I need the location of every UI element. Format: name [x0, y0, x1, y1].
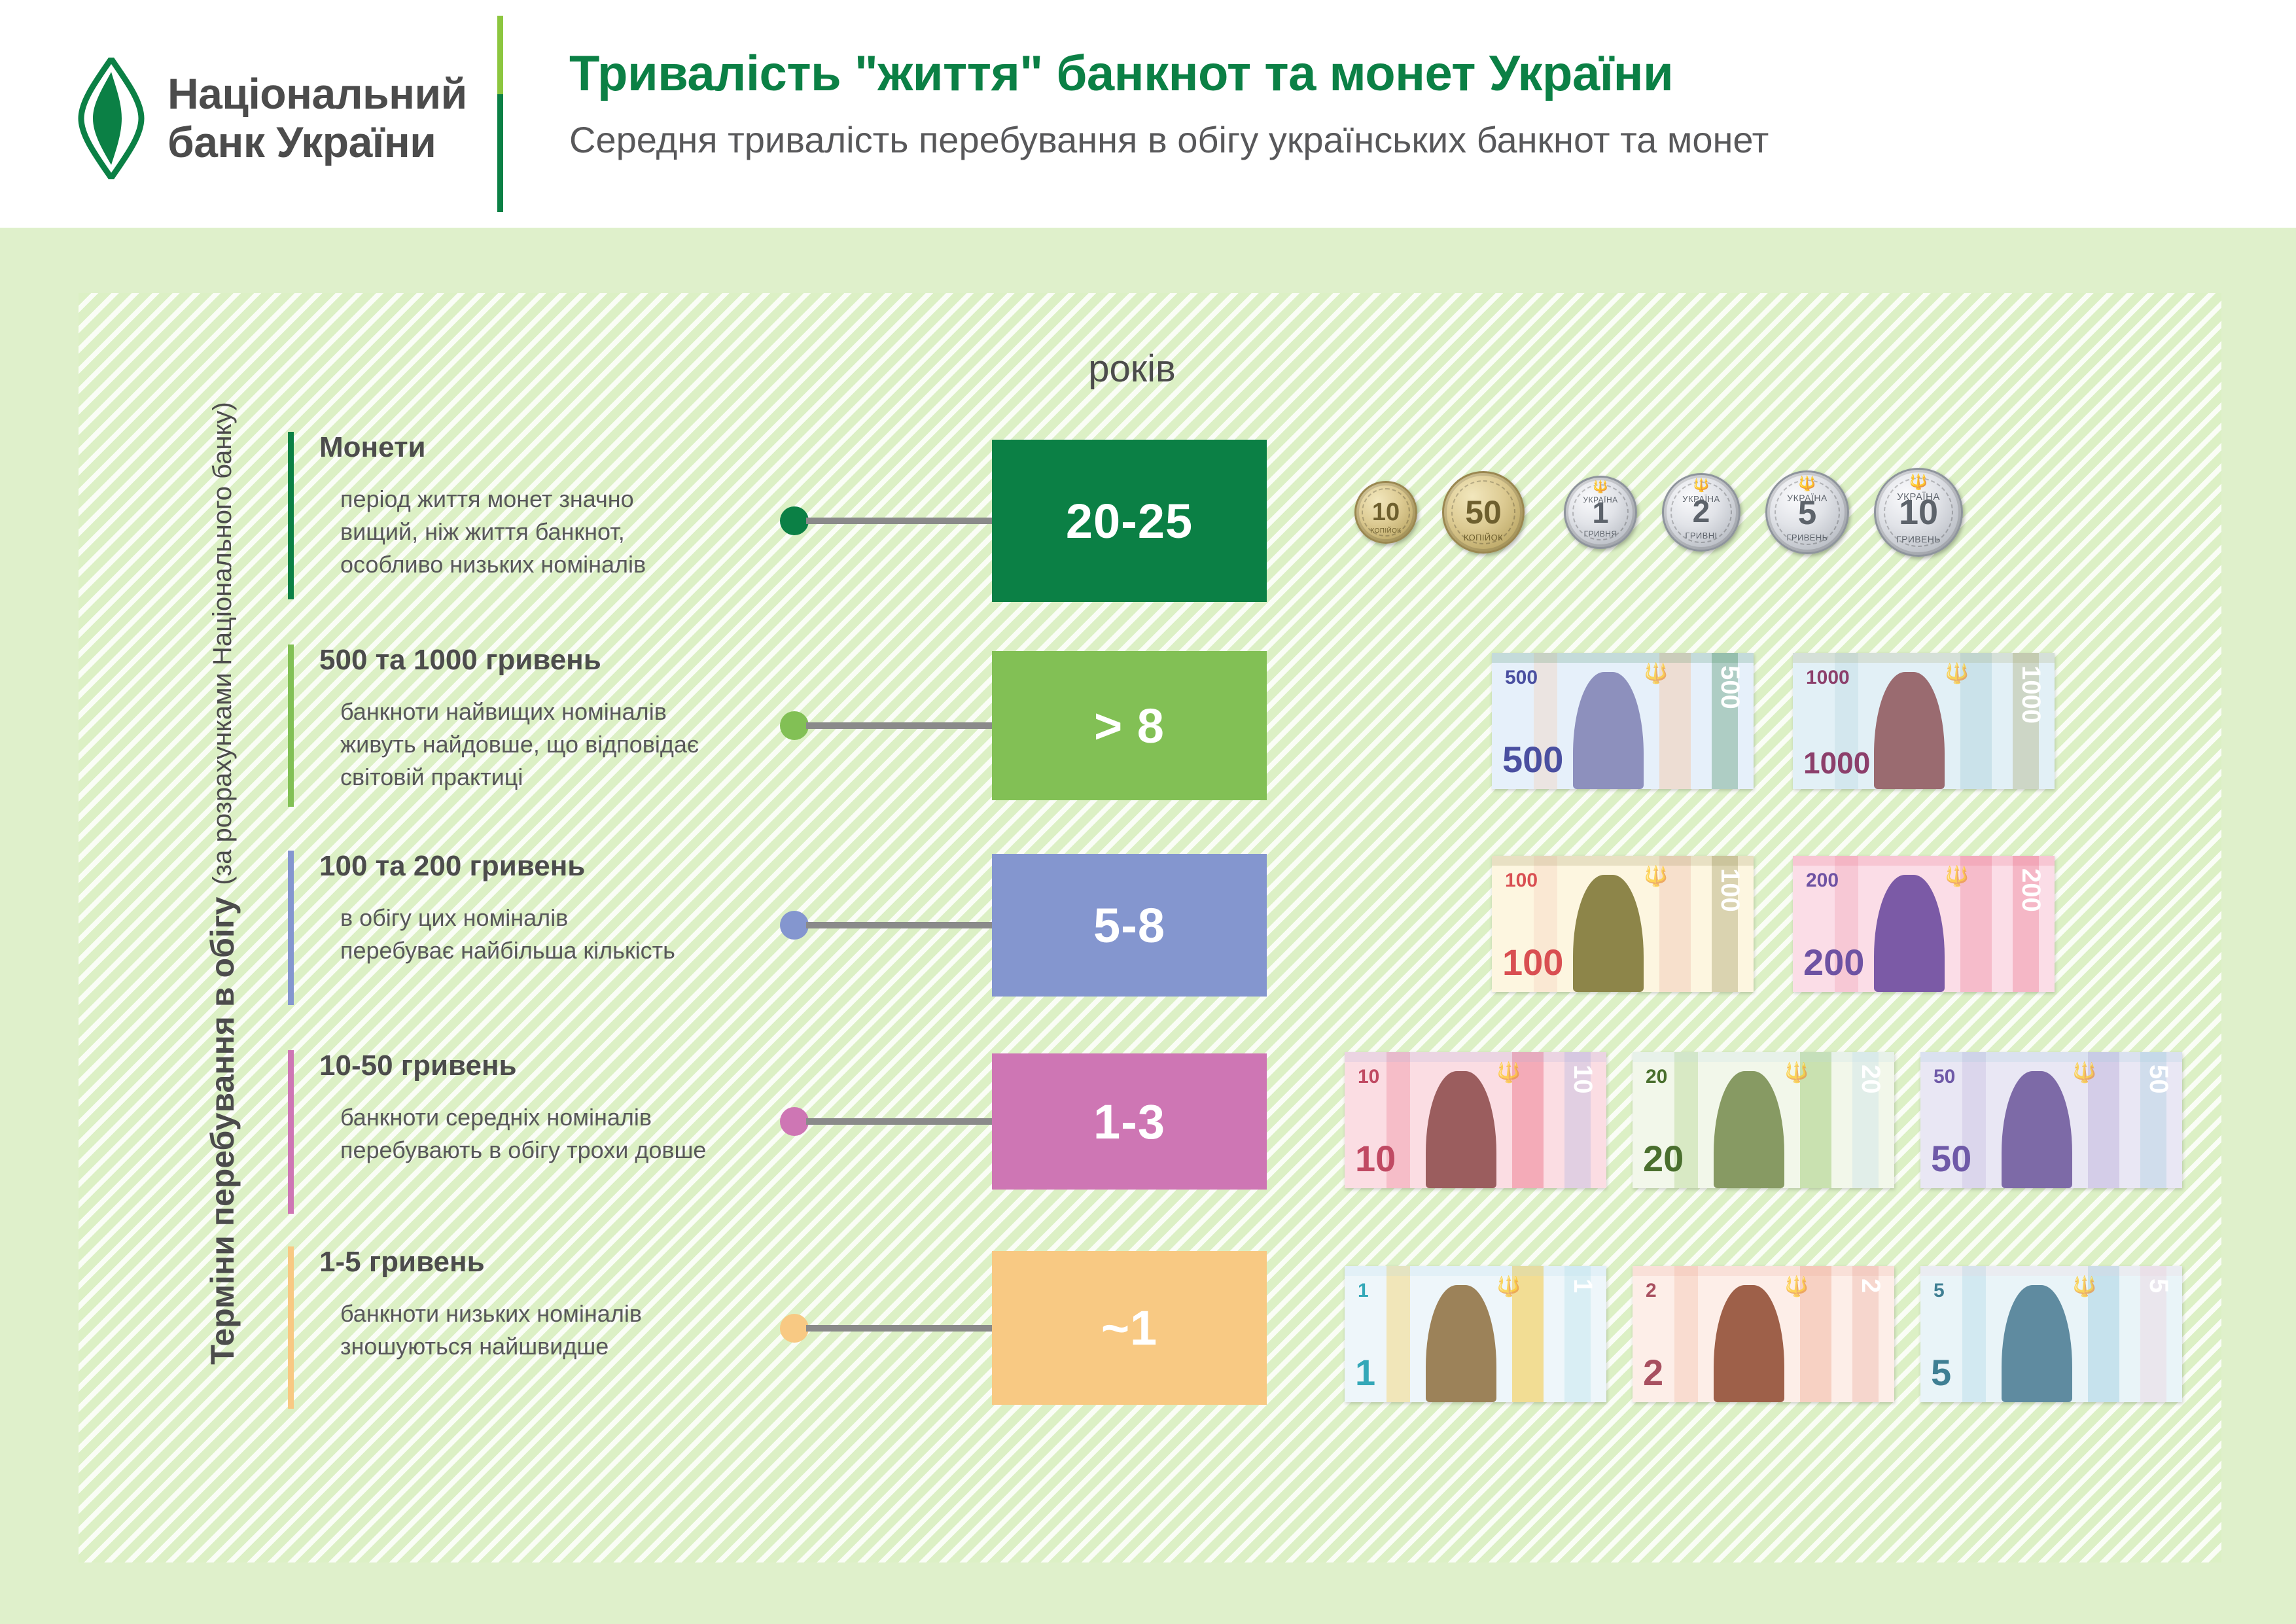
money-strip: 🔱101010🔱202020🔱505050: [1345, 1052, 2182, 1188]
banknote-2: 🔱222: [1633, 1266, 1894, 1402]
connector-dot: [780, 1107, 809, 1136]
banknote-decor-band: [1674, 1266, 1698, 1402]
coin-1: 🔱УКРАЇНА1ГРИВНЯ: [1564, 476, 1637, 549]
banknote-denomination-small: 100: [1505, 871, 1538, 891]
row-title: 500 та 1000 гривень: [319, 644, 746, 676]
banknote-denomination-large: 100: [1502, 944, 1563, 981]
banknote-denomination-large: 50: [1931, 1140, 1971, 1177]
banknote-denomination-small: 2: [1646, 1281, 1657, 1301]
trident-icon: 🔱: [1945, 664, 1969, 684]
value-block: 5-8: [992, 854, 1267, 997]
connector-line: [806, 922, 995, 928]
banknote-decor-band: [1962, 1266, 1986, 1402]
value-text: ~1: [1101, 1300, 1157, 1356]
banknote-denomination-small: 50: [1934, 1067, 1955, 1087]
trident-icon: 🔱: [1644, 867, 1668, 887]
coin-unit-text: ГРИВНІ: [1664, 531, 1739, 540]
banknote-denomination-vertical: 5: [2146, 1279, 2172, 1293]
banknote-decor-band: [1345, 1052, 1606, 1062]
banknote-portrait: [1426, 1285, 1496, 1402]
banknote-decor-band: [1345, 1266, 1606, 1276]
coin-country-text: УКРАЇНА: [1767, 493, 1847, 503]
value-block: 20-25: [992, 440, 1267, 602]
banknote-denomination-small: 1: [1358, 1281, 1369, 1301]
banknote-decor-band: [1793, 653, 2055, 663]
banknote-denomination-large: 1: [1355, 1354, 1375, 1391]
row-title: 100 та 200 гривень: [319, 851, 746, 882]
coin-5: 🔱УКРАЇНА5ГРИВЕНЬ: [1765, 470, 1849, 554]
row-title: Монети: [319, 432, 746, 463]
banknote-decor-band: [1492, 653, 1754, 663]
banknote-portrait: [1714, 1071, 1784, 1188]
banknote-portrait: [1874, 672, 1945, 789]
banknote-denomination-vertical: 20: [1858, 1065, 1884, 1094]
row-label-group: Монетиперіод життя монет значно вищий, н…: [288, 432, 746, 599]
connector-line: [806, 1118, 995, 1125]
connector-line: [806, 1325, 995, 1332]
banknote-denomination-vertical: 200: [2018, 868, 2044, 912]
banknote-denomination-small: 1000: [1806, 668, 1850, 688]
banknote-decor-band: [1386, 1266, 1410, 1402]
connector-dot: [780, 711, 809, 740]
money-strip: 🔱100100100🔱200200200: [1492, 856, 2055, 992]
coin-country-text: УКРАЇНА: [1664, 494, 1739, 504]
connector-dot: [780, 1314, 809, 1343]
trident-icon: 🔱: [1593, 481, 1608, 493]
banknote-denomination-large: 1000: [1803, 748, 1870, 778]
banknote-decor-band: [1793, 856, 2055, 866]
row-accent-bar: [288, 1050, 294, 1214]
page-title: Тривалість "життя" банкнот та монет Укра…: [569, 44, 2244, 103]
money-strip: 10КОПІЙОК50КОПІЙОК🔱УКРАЇНА1ГРИВНЯ🔱УКРАЇН…: [1341, 451, 2244, 582]
banknote-100: 🔱100100100: [1492, 856, 1754, 992]
banknote-denomination-vertical: 1000: [2018, 665, 2044, 724]
row-description: в обігу цих номіналів перебуває найбільш…: [340, 902, 746, 966]
row-description: період життя монет значно вищий, ніж жит…: [340, 483, 746, 580]
banknote-denomination-small: 5: [1934, 1281, 1945, 1301]
header-divider: [497, 16, 503, 212]
banknote-denomination-large: 2: [1643, 1354, 1663, 1391]
banknote-decor-band: [1920, 1052, 2182, 1062]
banknote-denomination-vertical: 1: [1570, 1279, 1596, 1293]
banknote-200: 🔱200200200: [1793, 856, 2055, 992]
banknote-portrait: [1426, 1071, 1496, 1188]
banknote-1: 🔱111: [1345, 1266, 1606, 1402]
y-axis-caption-sub: (за розрахунками Національного банку): [209, 402, 236, 885]
row-accent-bar: [288, 851, 294, 1005]
connector-line: [806, 722, 995, 729]
y-axis-caption: Терміни перебування в обігу (за розрахун…: [0, 432, 131, 1335]
nbu-logo: Національний банк України: [77, 58, 467, 179]
row-description: банкноти середніх номіналів перебувають …: [340, 1101, 746, 1166]
banknote-decor-band: [1633, 1052, 1894, 1062]
banknote-denomination-small: 500: [1505, 668, 1538, 688]
trident-icon: 🔱: [1945, 867, 1969, 887]
banknote-portrait: [1573, 672, 1644, 789]
nbu-leaf-emblem-icon: [77, 58, 145, 179]
banknote-denomination-vertical: 2: [1858, 1279, 1884, 1293]
coin-50: 50КОПІЙОК: [1442, 471, 1525, 554]
banknote-denomination-large: 500: [1502, 741, 1563, 778]
page-header: Національний банк України Тривалість "жи…: [0, 0, 2296, 228]
banknote-denomination-large: 5: [1931, 1354, 1951, 1391]
value-block: > 8: [992, 651, 1267, 800]
row-title: 1-5 гривень: [319, 1246, 746, 1278]
trident-icon: 🔱: [1784, 1063, 1809, 1083]
connector-dot: [780, 911, 809, 940]
banknote-denomination-large: 10: [1355, 1140, 1396, 1177]
value-text: 20-25: [1066, 493, 1193, 549]
banknote-10: 🔱101010: [1345, 1052, 1606, 1188]
value-text: 1-3: [1093, 1094, 1165, 1150]
trident-icon: 🔱: [1693, 479, 1710, 492]
trident-icon: 🔱: [1784, 1277, 1809, 1297]
row-label-group: 1-5 гривеньбанкноти низьких номіналів зн…: [288, 1246, 746, 1409]
row-label-group: 500 та 1000 гривеньбанкноти найвищих ном…: [288, 644, 746, 807]
trident-icon: 🔱: [1496, 1277, 1521, 1297]
banknote-denomination-large: 20: [1643, 1140, 1684, 1177]
row-description: банкноти низьких номіналів зношуються на…: [340, 1297, 746, 1362]
banknote-portrait: [1573, 875, 1644, 992]
row-title: 10-50 гривень: [319, 1050, 746, 1082]
row-connector: [780, 711, 996, 740]
coin-country-text: УКРАЇНА: [1566, 495, 1635, 504]
banknote-5: 🔱555: [1920, 1266, 2182, 1402]
trident-icon: 🔱: [2072, 1277, 2096, 1297]
trident-icon: 🔱: [1798, 476, 1816, 491]
connector-line: [806, 518, 995, 524]
page-subtitle: Середня тривалість перебування в обігу у…: [569, 118, 2244, 162]
value-block: 1-3: [992, 1053, 1267, 1190]
coin-2: 🔱УКРАЇНА2ГРИВНІ: [1662, 473, 1740, 552]
banknote-500: 🔱500500500: [1492, 653, 1754, 789]
banknote-50: 🔱505050: [1920, 1052, 2182, 1188]
unit-label: років: [995, 347, 1269, 391]
row-accent-bar: [288, 644, 294, 807]
banknote-denomination-small: 200: [1806, 871, 1839, 891]
row-accent-bar: [288, 1246, 294, 1409]
coin-unit-text: КОПІЙОК: [1356, 527, 1415, 535]
value-text: > 8: [1094, 698, 1165, 754]
row-connector: [780, 506, 996, 535]
value-text: 5-8: [1093, 898, 1165, 953]
nbu-logo-text: Національний банк України: [168, 70, 467, 167]
trident-icon: 🔱: [2072, 1063, 2096, 1083]
row-label-group: 10-50 гривеньбанкноти середніх номіналів…: [288, 1050, 746, 1214]
row-label-group: 100 та 200 гривеньв обігу цих номіналів …: [288, 851, 746, 1005]
row-connector: [780, 911, 996, 940]
header-titles: Тривалість "життя" банкнот та монет Укра…: [569, 44, 2244, 162]
money-strip: 🔱500500500🔱100010001000: [1492, 653, 2055, 789]
coin-10: 🔱УКРАЇНА10ГРИВЕНЬ: [1874, 468, 1963, 557]
banknote-denomination-vertical: 500: [1717, 665, 1743, 709]
coin-unit-text: ГРИВЕНЬ: [1767, 533, 1847, 542]
connector-dot: [780, 506, 809, 535]
banknote-portrait: [1874, 875, 1945, 992]
banknote-denomination-vertical: 50: [2146, 1065, 2172, 1094]
banknote-denomination-vertical: 10: [1570, 1065, 1596, 1094]
y-axis-caption-main: Терміни перебування в обігу: [206, 897, 239, 1365]
coin-country-text: УКРАЇНА: [1876, 491, 1961, 503]
banknote-decor-band: [1492, 856, 1754, 866]
banknote-1000: 🔱100010001000: [1793, 653, 2055, 789]
coin-10: 10КОПІЙОК: [1354, 481, 1417, 544]
banknote-denomination-vertical: 100: [1717, 868, 1743, 912]
row-connector: [780, 1107, 996, 1136]
coin-unit-text: ГРИВЕНЬ: [1876, 534, 1961, 544]
banknote-portrait: [1714, 1285, 1784, 1402]
row-connector: [780, 1314, 996, 1343]
row-description: банкноти найвищих номіналів живуть найдо…: [340, 696, 746, 793]
trident-icon: 🔱: [1644, 664, 1668, 684]
trident-icon: 🔱: [1909, 474, 1928, 489]
banknote-portrait: [2002, 1071, 2072, 1188]
money-strip: 🔱111🔱222🔱555: [1345, 1266, 2182, 1402]
banknote-decor-band: [1633, 1266, 1894, 1276]
coin-unit-text: ГРИВНЯ: [1566, 529, 1635, 538]
banknote-20: 🔱202020: [1633, 1052, 1894, 1188]
value-block: ~1: [992, 1251, 1267, 1405]
banknote-decor-band: [1920, 1266, 2182, 1276]
banknote-denomination-small: 10: [1358, 1067, 1379, 1087]
row-accent-bar: [288, 432, 294, 599]
banknote-portrait: [2002, 1285, 2072, 1402]
banknote-denomination-large: 200: [1803, 944, 1864, 981]
trident-icon: 🔱: [1496, 1063, 1521, 1083]
coin-unit-text: КОПІЙОК: [1444, 533, 1523, 542]
banknote-denomination-small: 20: [1646, 1067, 1667, 1087]
